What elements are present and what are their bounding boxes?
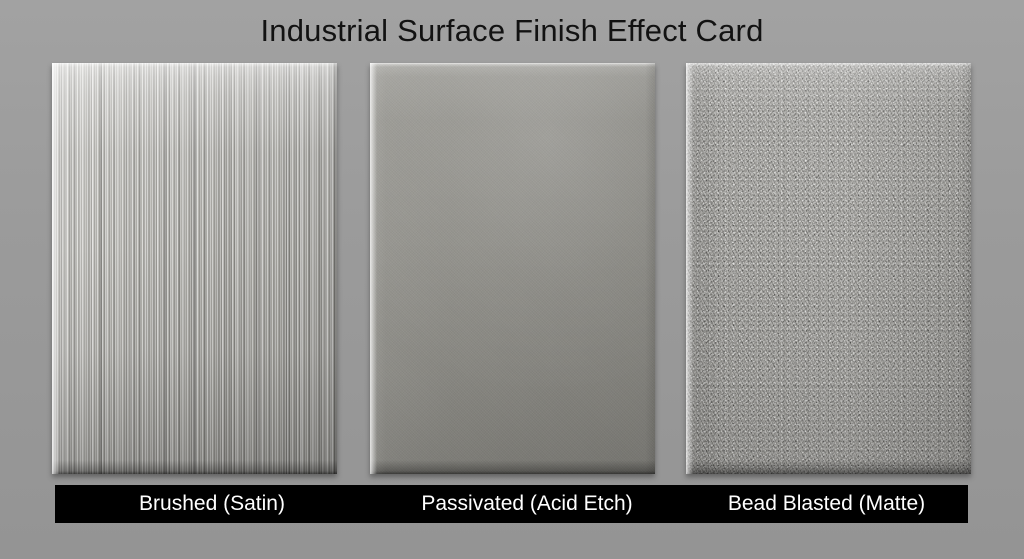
sample-label-bar: Brushed (Satin) Passivated (Acid Etch) B… xyxy=(55,485,968,523)
passivated-sheen-overlay xyxy=(370,63,655,474)
page-title: Industrial Surface Finish Effect Card xyxy=(0,12,1024,50)
sample-panel-bead-blasted-matte[interactable] xyxy=(686,63,971,474)
surface-finish-effect-card: Industrial Surface Finish Effect Card Br… xyxy=(0,0,1024,559)
sample-label-brushed-satin: Brushed (Satin) xyxy=(55,491,369,517)
sample-panel-brushed-satin[interactable] xyxy=(52,63,337,474)
brushed-sheen-overlay xyxy=(52,63,337,474)
sample-label-passivated-acid-etch: Passivated (Acid Etch) xyxy=(369,491,685,517)
sample-panel-passivated-acid-etch[interactable] xyxy=(370,63,655,474)
blasted-sheen-overlay xyxy=(686,63,971,474)
sample-label-bead-blasted-matte: Bead Blasted (Matte) xyxy=(685,491,968,517)
